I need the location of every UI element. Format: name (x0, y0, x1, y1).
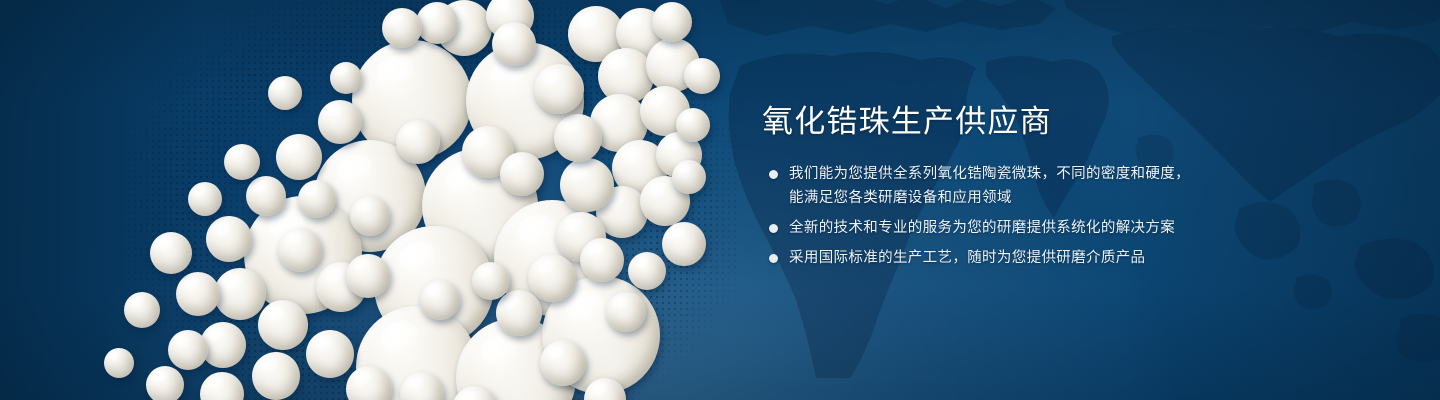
list-item-line: 我们能为您提供全系列氧化锆陶瓷微珠，不同的密度和硬度， (789, 162, 1382, 186)
page-title: 氧化锆珠生产供应商 (762, 104, 1382, 140)
feature-list: 我们能为您提供全系列氧化锆陶瓷微珠，不同的密度和硬度， 能满足您各类研磨设备和应… (762, 162, 1382, 270)
list-item-line: 全新的技术和专业的服务为您的研磨提供系统化的解决方案 (789, 216, 1382, 240)
banner-copy: 氧化锆珠生产供应商 我们能为您提供全系列氧化锆陶瓷微珠，不同的密度和硬度， 能满… (762, 104, 1382, 270)
list-item-line: 采用国际标准的生产工艺，随时为您提供研磨介质产品 (789, 246, 1382, 270)
bullet-dot-icon (769, 224, 778, 233)
hero-banner: 氧化锆珠生产供应商 我们能为您提供全系列氧化锆陶瓷微珠，不同的密度和硬度， 能满… (0, 0, 1440, 400)
bullet-dot-icon (769, 254, 778, 263)
list-item: 我们能为您提供全系列氧化锆陶瓷微珠，不同的密度和硬度， 能满足您各类研磨设备和应… (762, 162, 1382, 210)
bullet-dot-icon (769, 170, 778, 179)
list-item: 全新的技术和专业的服务为您的研磨提供系统化的解决方案 (762, 216, 1382, 240)
list-item: 采用国际标准的生产工艺，随时为您提供研磨介质产品 (762, 246, 1382, 270)
list-item-line: 能满足您各类研磨设备和应用领域 (789, 186, 1382, 210)
